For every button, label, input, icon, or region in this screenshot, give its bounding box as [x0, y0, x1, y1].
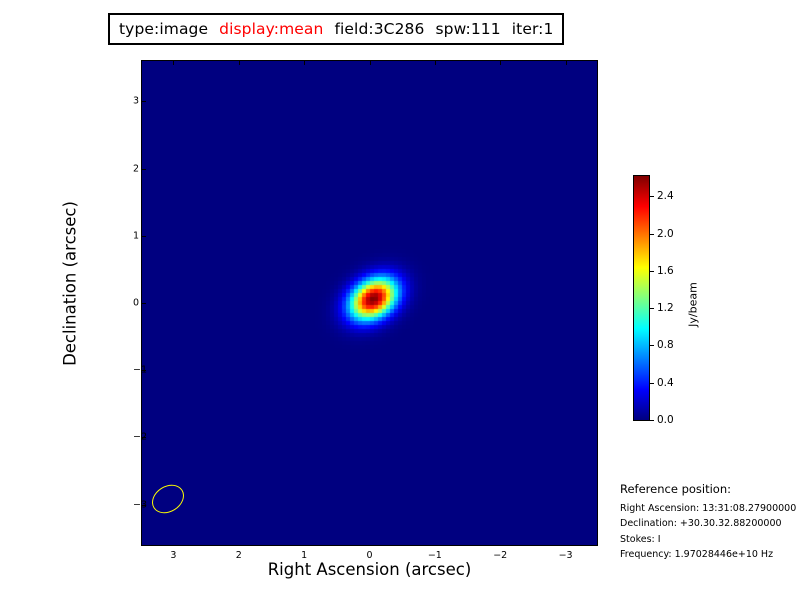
colorbar-tick	[650, 345, 654, 346]
x-tick-bot	[500, 61, 501, 65]
y-tick-label: 2	[133, 163, 139, 174]
titlebar-token-4: iter:1	[512, 20, 554, 38]
y-tick-label: −1	[133, 365, 147, 376]
reference-position-frequency: Frequency: 1.97028446e+10 Hz	[620, 547, 800, 562]
y-tick-label: 1	[133, 230, 139, 241]
colorbar-tick-label: 0.0	[657, 414, 674, 426]
colorbar[interactable]	[633, 175, 650, 421]
colorbar-tick-label: 1.2	[657, 302, 674, 314]
x-tick-bot	[304, 61, 305, 65]
sky-image-heatmap[interactable]	[142, 61, 597, 545]
colorbar-tick-label: 2.0	[657, 228, 674, 240]
x-tick-bot	[566, 61, 567, 65]
x-tick-bot	[370, 61, 371, 65]
x-tick-bot	[435, 61, 436, 65]
y-tick-right	[142, 169, 146, 170]
titlebar-token-0: type:image	[119, 20, 208, 38]
image-plot-area[interactable]	[141, 60, 598, 546]
y-tick-label: 0	[133, 298, 139, 309]
y-tick-right	[142, 303, 146, 304]
colorbar-tick	[650, 196, 654, 197]
colorbar-tick-label: 2.4	[657, 190, 674, 202]
colorbar-tick-label: 1.6	[657, 265, 674, 277]
colorbar-tick	[650, 234, 654, 235]
reference-position-stokes: Stokes: I	[620, 532, 800, 547]
y-tick-label: 3	[133, 96, 139, 107]
titlebar-token-1: display:mean	[219, 20, 323, 38]
y-tick-right	[142, 236, 146, 237]
colorbar-tick	[650, 383, 654, 384]
y-tick-right	[142, 101, 146, 102]
colorbar-tick-label: 0.8	[657, 339, 674, 351]
reference-position-right-ascension: Right Ascension: 13:31:08.27900000	[620, 501, 800, 516]
reference-position-block: Reference position: Right Ascension: 13:…	[620, 482, 800, 563]
x-tick-bot	[239, 61, 240, 65]
x-axis-label: Right Ascension (arcsec)	[141, 560, 598, 579]
titlebar-token-2: field:3C286	[334, 20, 424, 38]
titlebar-token-3: spw:111	[435, 20, 500, 38]
colorbar-gradient	[634, 176, 649, 420]
colorbar-tick-label: 0.4	[657, 377, 674, 389]
x-tick-bot	[173, 61, 174, 65]
reference-position-declination: Declination: +30.30.32.88200000	[620, 516, 800, 531]
colorbar-tick	[650, 308, 654, 309]
y-tick-label: −3	[133, 499, 147, 510]
image-info-titlebar: type:imagedisplay:meanfield:3C286spw:111…	[108, 13, 564, 45]
colorbar-tick	[650, 271, 654, 272]
colorbar-tick	[650, 420, 654, 421]
y-axis-label: Declination (arcsec)	[61, 94, 80, 474]
y-tick-label: −2	[133, 432, 147, 443]
reference-position-heading: Reference position:	[620, 482, 800, 496]
colorbar-unit-label: Jy/beam	[687, 245, 700, 365]
